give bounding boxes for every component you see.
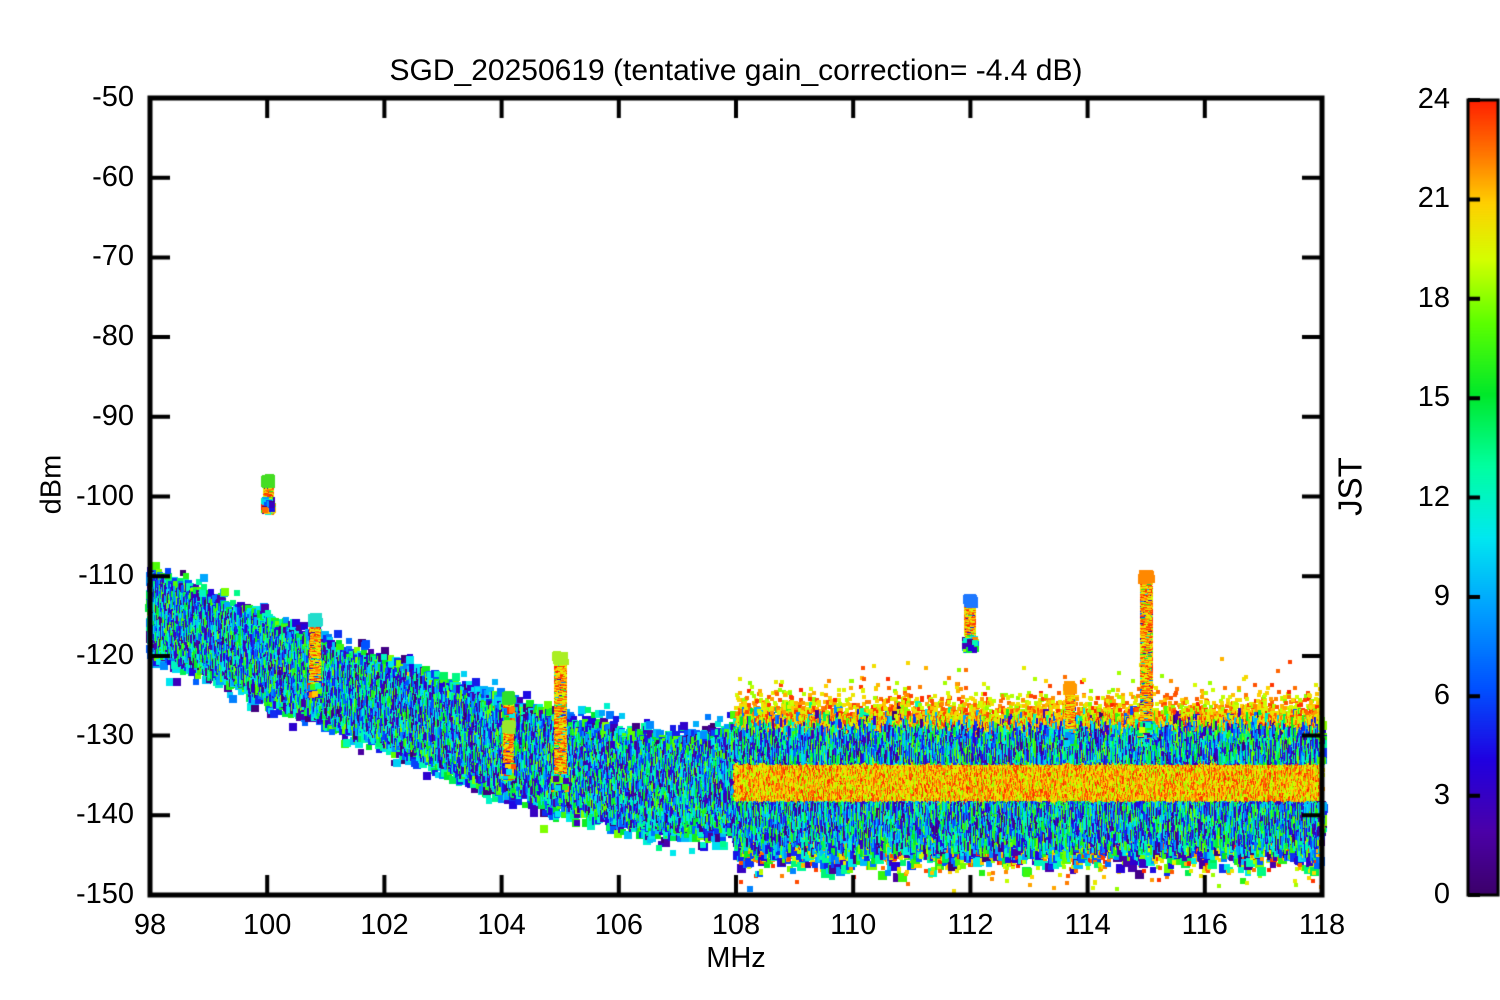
x-tick-label: 112 (910, 911, 1030, 940)
y-tick-label: -150 (14, 880, 134, 909)
y-tick-label: -110 (14, 561, 134, 590)
colorbar-tick-label: 3 (1360, 781, 1450, 810)
x-tick-label: 102 (324, 911, 444, 940)
spectrum-figure: SGD_20250619 (tentative gain_correction=… (0, 0, 1500, 1000)
x-tick-label: 106 (559, 911, 679, 940)
x-tick-label: 118 (1262, 911, 1382, 940)
y-tick-label: -100 (14, 482, 134, 511)
colorbar-tick-label: 24 (1360, 85, 1450, 114)
chart-title: SGD_20250619 (tentative gain_correction=… (150, 56, 1322, 86)
y-tick-label: -70 (14, 242, 134, 271)
colorbar-tick-label: 9 (1360, 582, 1450, 611)
colorbar-tick-label: 18 (1360, 284, 1450, 313)
x-tick-label: 108 (676, 911, 796, 940)
y-tick-label: -80 (14, 322, 134, 351)
x-tick-label: 104 (442, 911, 562, 940)
x-tick-label: 116 (1145, 911, 1265, 940)
y-tick-label: -130 (14, 721, 134, 750)
y-tick-label: -50 (14, 83, 134, 112)
colorbar-tick-label: 12 (1360, 483, 1450, 512)
x-tick-label: 98 (90, 911, 210, 940)
colorbar-tick-label: 0 (1360, 880, 1450, 909)
x-axis-label: MHz (676, 944, 796, 973)
y-tick-label: -60 (14, 163, 134, 192)
spectrum-plot-canvas (0, 0, 1500, 1000)
y-tick-label: -90 (14, 402, 134, 431)
colorbar-tick-label: 15 (1360, 383, 1450, 412)
y-tick-label: -140 (14, 800, 134, 829)
colorbar-tick-label: 6 (1360, 681, 1450, 710)
x-tick-label: 110 (793, 911, 913, 940)
x-tick-label: 114 (1028, 911, 1148, 940)
y-tick-label: -120 (14, 641, 134, 670)
x-tick-label: 100 (207, 911, 327, 940)
colorbar-tick-label: 21 (1360, 184, 1450, 213)
